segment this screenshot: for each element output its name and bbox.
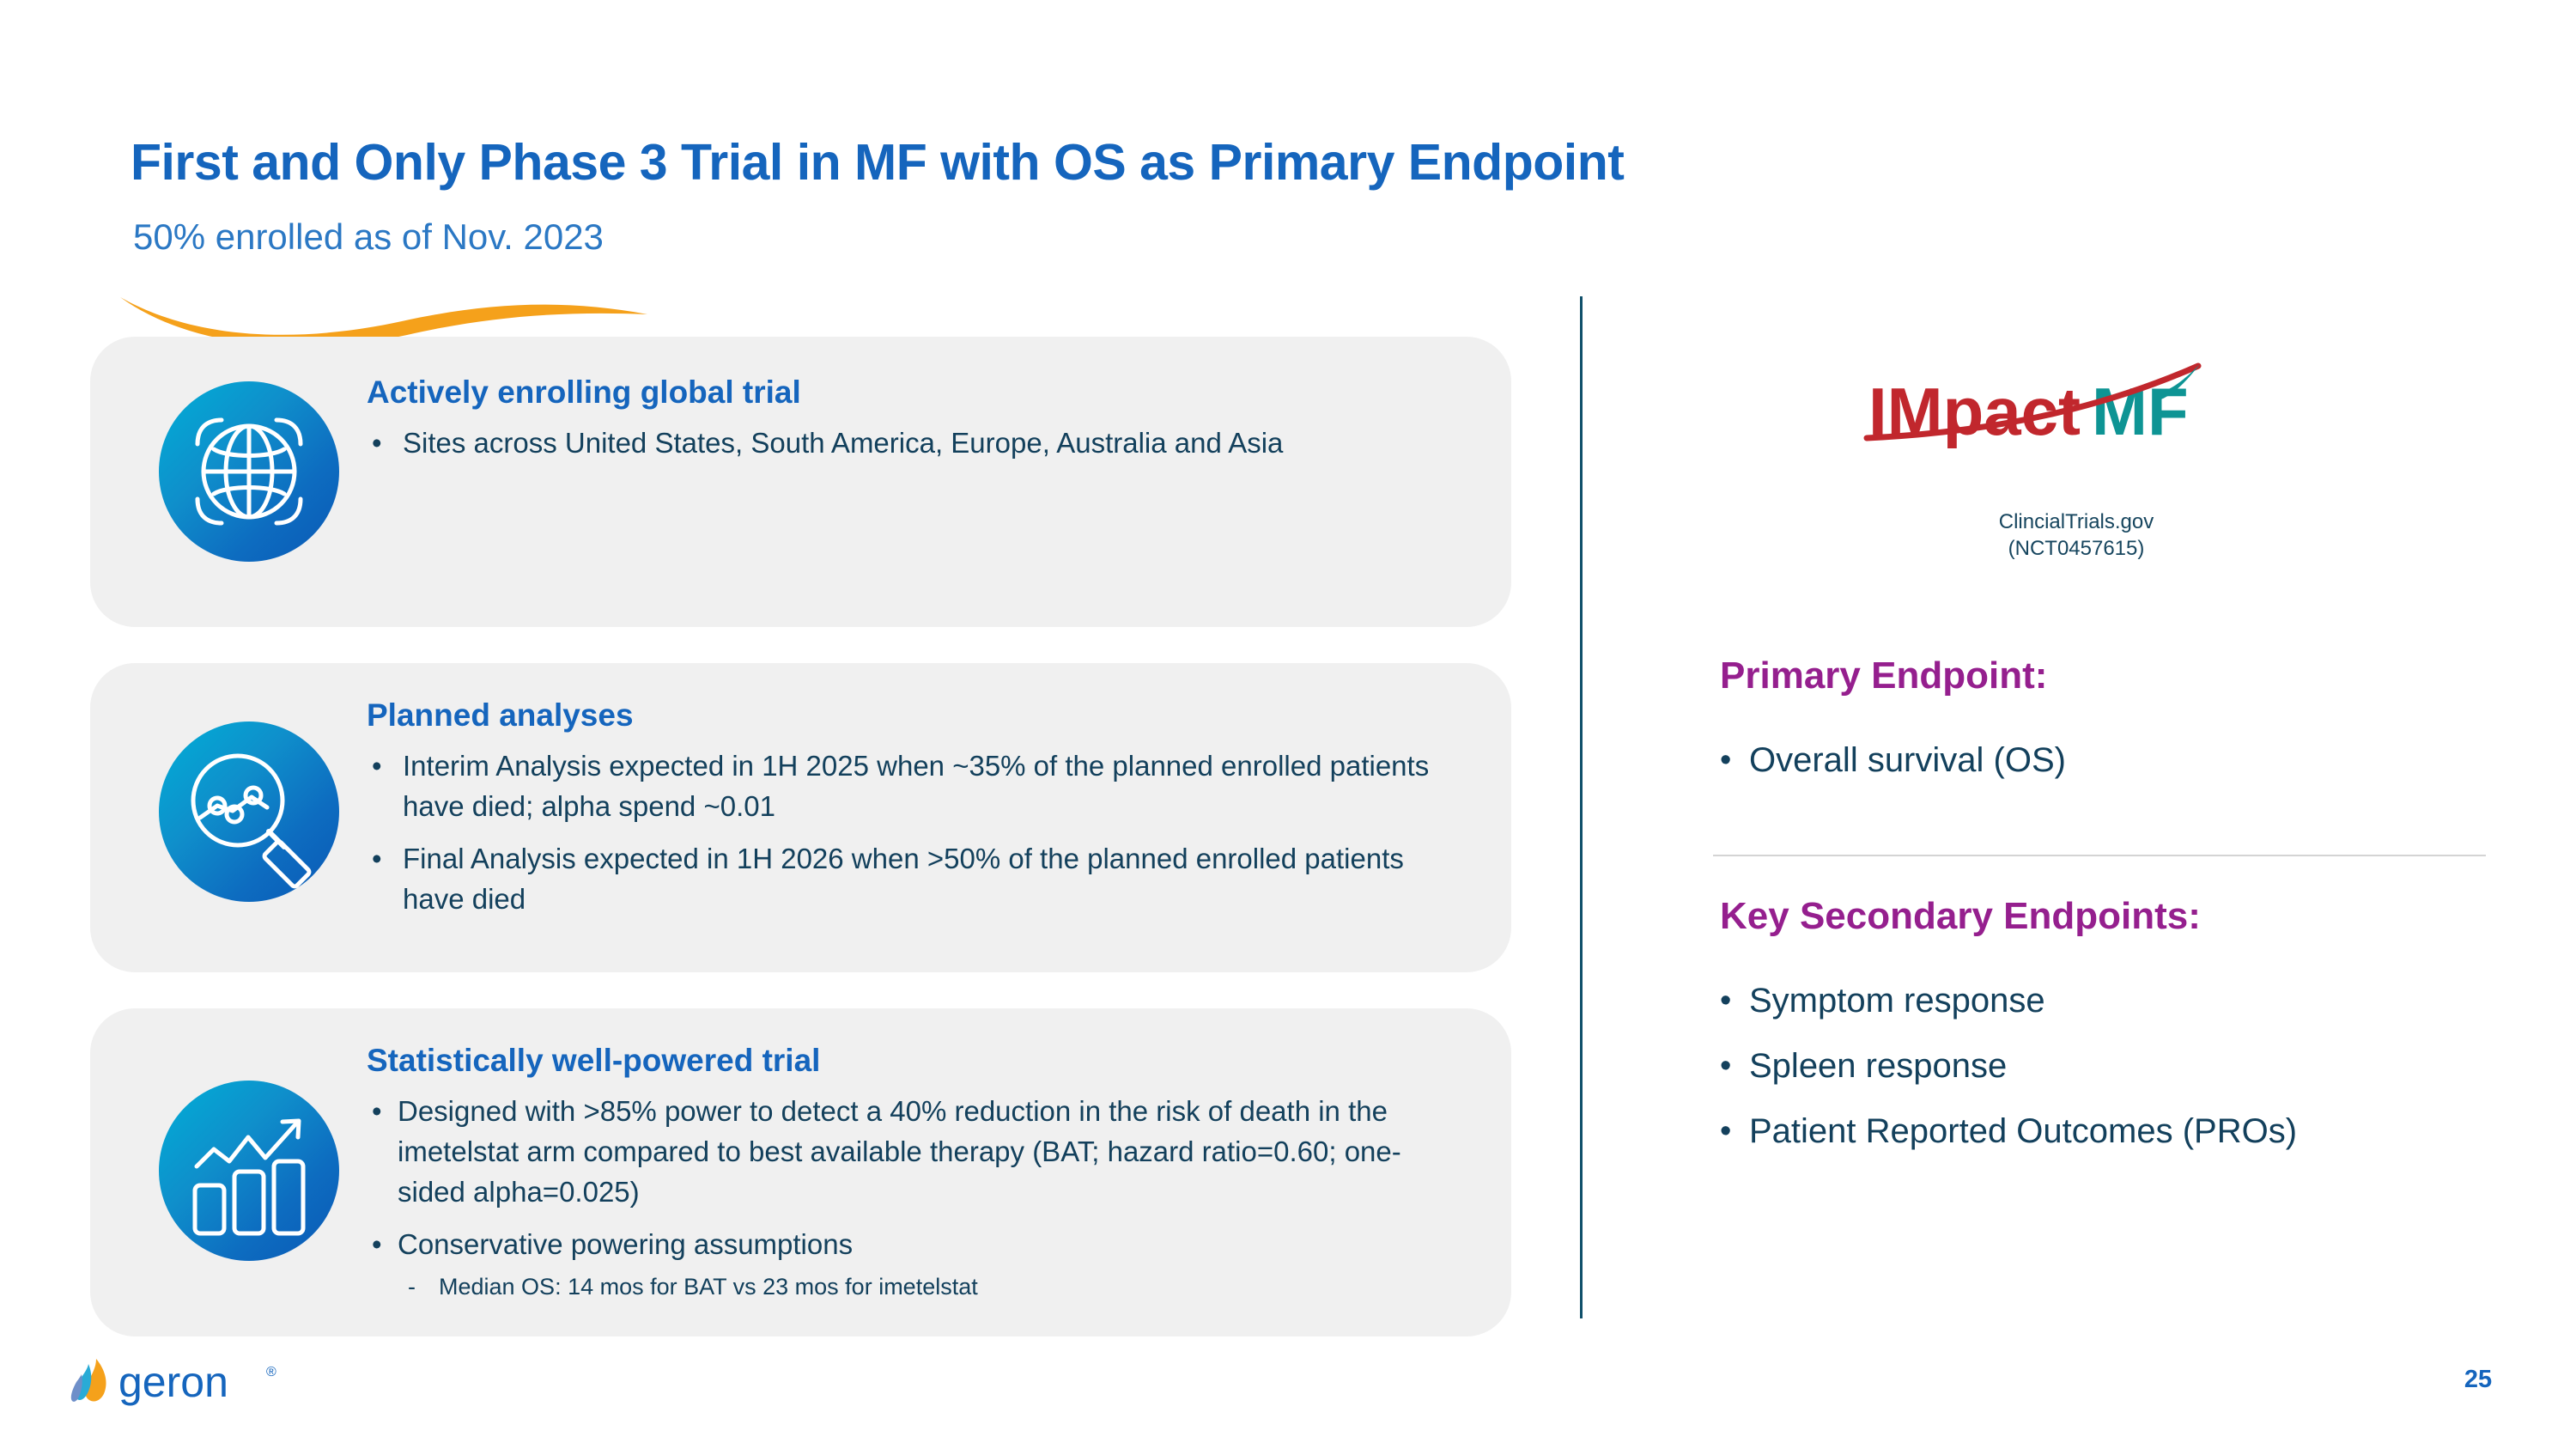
list-item: • Spleen response	[1720, 1043, 2493, 1089]
page-subtitle: 50% enrolled as of Nov. 2023	[133, 216, 604, 258]
secondary-endpoint-list: • Symptom response • Spleen response • P…	[1720, 977, 2493, 1173]
sub-list-item: - Median OS: 14 mos for BAT vs 23 mos fo…	[367, 1269, 1468, 1304]
list-item: • Sites across United States, South Amer…	[367, 423, 1468, 463]
bullet-text: Conservative powering assumptions	[398, 1224, 1468, 1264]
card-planned-analyses: Planned analyses • Interim Analysis expe…	[90, 663, 1511, 972]
bullet-marker: •	[1720, 1043, 1749, 1089]
sub-bullet-marker: -	[408, 1269, 439, 1304]
card-heading: Planned analyses	[367, 697, 1468, 734]
card-actively-enrolling: Actively enrolling global trial • Sites …	[90, 337, 1511, 627]
column-divider	[1580, 296, 1583, 1318]
list-item: • Symptom response	[1720, 977, 2493, 1024]
page-number: 25	[2444, 1366, 2512, 1394]
card-content: Planned analyses • Interim Analysis expe…	[367, 697, 1468, 919]
page-title: First and Only Phase 3 Trial in MF with …	[131, 133, 1624, 192]
list-item: • Patient Reported Outcomes (PROs)	[1720, 1108, 2493, 1154]
globe-icon	[159, 381, 339, 562]
endpoint-section-divider	[1713, 855, 2486, 856]
sub-bullet-text: Median OS: 14 mos for BAT vs 23 mos for …	[439, 1269, 1468, 1304]
svg-text:MF: MF	[2092, 374, 2189, 449]
svg-text:®: ®	[266, 1365, 276, 1379]
registry-id: (NCT0457615)	[1862, 535, 2291, 562]
card-heading: Actively enrolling global trial	[367, 374, 1468, 411]
bullet-text: Designed with >85% power to detect a 40%…	[398, 1091, 1468, 1212]
bullet-text: Spleen response	[1749, 1043, 2493, 1089]
primary-endpoint-heading: Primary Endpoint:	[1720, 654, 2047, 697]
bullet-text: Interim Analysis expected in 1H 2025 whe…	[403, 746, 1468, 826]
bullet-text: Sites across United States, South Americ…	[403, 423, 1468, 463]
chart-magnifier-icon	[159, 721, 339, 902]
secondary-endpoint-heading: Key Secondary Endpoints:	[1720, 895, 2201, 938]
impactmf-logo: IMpact MF	[1862, 359, 2291, 471]
bullet-marker: •	[367, 1224, 398, 1264]
card-content: Statistically well-powered trial • Desig…	[367, 1043, 1468, 1304]
bullet-marker: •	[1720, 1108, 1749, 1154]
bar-chart-growth-icon	[159, 1081, 339, 1261]
svg-text:geron: geron	[118, 1358, 228, 1406]
bullet-marker: •	[367, 746, 403, 786]
bullet-marker: •	[1720, 977, 1749, 1024]
list-item: • Overall survival (OS)	[1720, 737, 2493, 783]
bullet-marker: •	[367, 1091, 398, 1131]
bullet-text: Symptom response	[1749, 977, 2493, 1024]
primary-endpoint-list: • Overall survival (OS)	[1720, 737, 2493, 802]
list-item: • Conservative powering assumptions	[367, 1224, 1468, 1264]
bullet-text: Overall survival (OS)	[1749, 737, 2493, 783]
registry-name: ClincialTrials.gov	[1862, 508, 2291, 535]
card-content: Actively enrolling global trial • Sites …	[367, 374, 1468, 463]
bullet-marker: •	[367, 423, 403, 463]
list-item: • Final Analysis expected in 1H 2026 whe…	[367, 838, 1468, 919]
list-item: • Interim Analysis expected in 1H 2025 w…	[367, 746, 1468, 826]
bullet-marker: •	[1720, 737, 1749, 783]
geron-logo: geron ®	[70, 1355, 285, 1409]
bullet-text: Patient Reported Outcomes (PROs)	[1749, 1108, 2493, 1154]
bullet-marker: •	[367, 838, 403, 879]
card-well-powered-trial: Statistically well-powered trial • Desig…	[90, 1008, 1511, 1336]
card-heading: Statistically well-powered trial	[367, 1043, 1468, 1079]
bullet-text: Final Analysis expected in 1H 2026 when …	[403, 838, 1468, 919]
trial-registry-info: ClincialTrials.gov (NCT0457615)	[1862, 508, 2291, 562]
list-item: • Designed with >85% power to detect a 4…	[367, 1091, 1468, 1212]
